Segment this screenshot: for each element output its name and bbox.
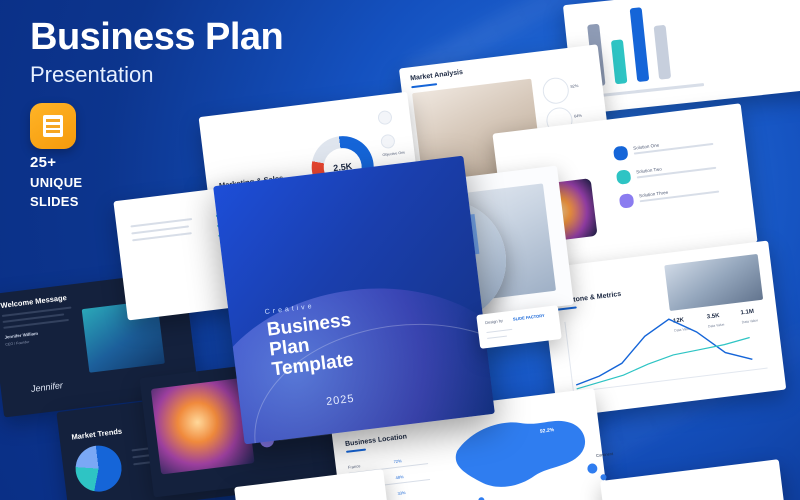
title-underline (411, 83, 437, 88)
slide-count-slides: SLIDES (30, 193, 82, 212)
pie-chart (73, 443, 124, 494)
slide-bottom-partial-2[interactable] (600, 459, 784, 500)
slide-title: Market Analysis (410, 69, 464, 82)
text-line (486, 329, 512, 334)
page-title: Business Plan (30, 18, 360, 56)
file-glyph (43, 115, 63, 137)
text-line (487, 336, 507, 340)
objective-label-3: Objective One (382, 150, 405, 157)
objective-icon-3 (377, 110, 393, 126)
signature: Jennifer (30, 380, 63, 394)
slide-count-unique: UNIQUE (30, 174, 82, 193)
stat-label-2: 64% (574, 113, 583, 119)
bar-axis (594, 83, 704, 97)
solution-icon-1 (613, 145, 629, 161)
person-name: Jennifer William (4, 331, 38, 340)
line-chart (564, 298, 769, 394)
poster-canvas: Business Plan Presentation 25+ UNIQUE SL… (0, 0, 800, 500)
location-row-value-2: 48% (395, 474, 404, 480)
bar-2 (611, 39, 628, 84)
text-line (132, 232, 192, 241)
slides-file-icon (30, 103, 76, 149)
location-row-name-1: France (348, 463, 361, 469)
caption-brand: SLIDE FACTORY (513, 313, 545, 322)
caption-text: Design by (485, 318, 503, 325)
slide-count-value: 25+ (30, 152, 82, 174)
slide-feature-title[interactable]: Creative Business Plan Template 2025 (213, 156, 495, 445)
location-row-value-3: 33% (397, 490, 406, 496)
page-subtitle: Presentation (30, 62, 360, 88)
bar-3 (630, 7, 650, 82)
person-role: CEO / Founder (5, 340, 29, 347)
location-row-value-1: 72% (393, 458, 402, 464)
poster-headline: Business Plan Presentation (30, 18, 360, 88)
objective-icon-4 (380, 134, 396, 150)
solution-icon-3 (619, 193, 635, 209)
stat-chip-1 (541, 76, 570, 105)
slide-title: Market Trends (71, 427, 123, 442)
bar-4 (654, 25, 672, 80)
title-underline (346, 448, 366, 452)
stat-label-1: 82% (570, 83, 579, 89)
title-underline (557, 306, 577, 310)
solution-icon-2 (616, 169, 632, 185)
slide-count-block: 25+ UNIQUE SLIDES (30, 152, 82, 211)
slide-title: Business Location (345, 433, 408, 448)
